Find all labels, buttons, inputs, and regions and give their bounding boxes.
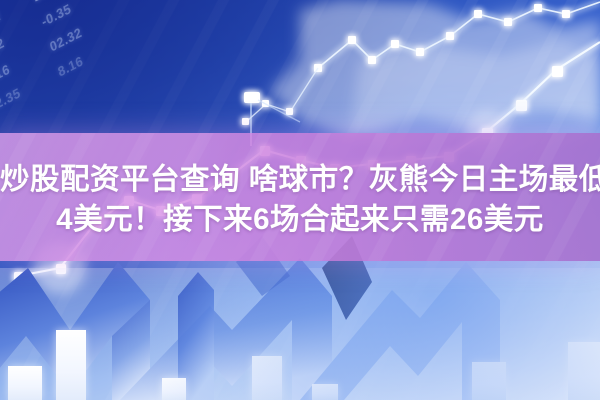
headline-line-1: 炒股配资平台查询 啥球市？灰熊今日主场最低票价 <box>0 160 600 200</box>
headline: 炒股配资平台查询 啥球市？灰熊今日主场最低票价 4美元！接下来6场合起来只需26… <box>0 160 600 240</box>
banner-image: +0.35 21.05 45.02 -11.25 -0.35 4.36 +5.0… <box>0 0 600 400</box>
headline-line-2: 4美元！接下来6场合起来只需26美元 <box>0 200 600 240</box>
